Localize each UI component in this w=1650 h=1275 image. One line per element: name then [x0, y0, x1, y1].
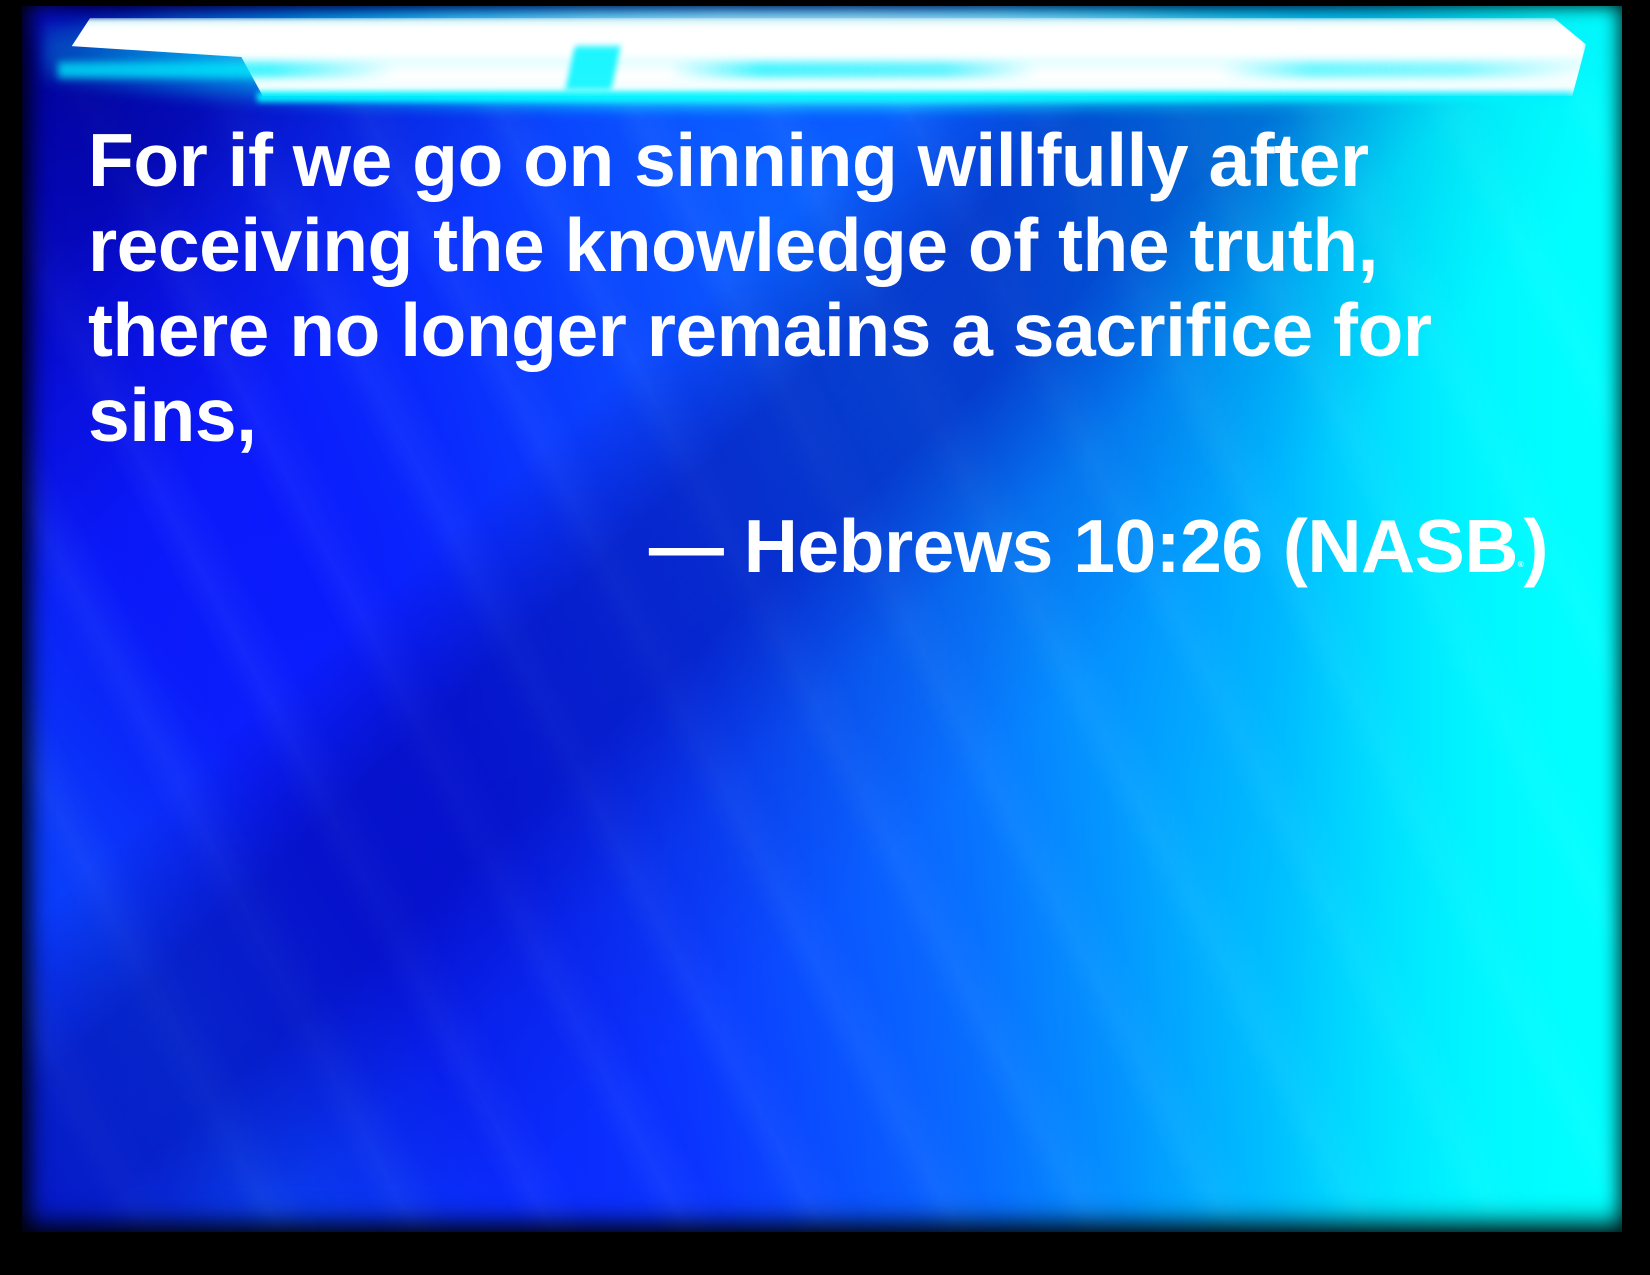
header-band-cyan-streak [58, 62, 1586, 78]
verse-attribution: — Hebrews 10:26 (NASB®) [88, 504, 1568, 607]
header-band-underline [257, 92, 1571, 102]
verse-text-block: For if we go on sinning willfully after … [88, 118, 1568, 607]
verse-line-3: there no longer remains a sacrifice for [88, 288, 1568, 373]
verse-slide: For if we go on sinning willfully after … [0, 0, 1650, 1275]
header-glow-band [58, 18, 1586, 96]
attribution-close-paren: ) [1524, 504, 1548, 588]
slide-picture-area: For if we go on sinning willfully after … [22, 6, 1622, 1232]
attribution-reference: — Hebrews 10:26 (NASB [649, 504, 1518, 588]
header-band-core [58, 18, 1586, 96]
verse-line-4: sins, [88, 373, 1568, 458]
verse-line-2: receiving the knowledge of the truth, [88, 203, 1568, 288]
header-band-cyan-notch [565, 46, 620, 90]
verse-line-1: For if we go on sinning willfully after [88, 118, 1568, 203]
